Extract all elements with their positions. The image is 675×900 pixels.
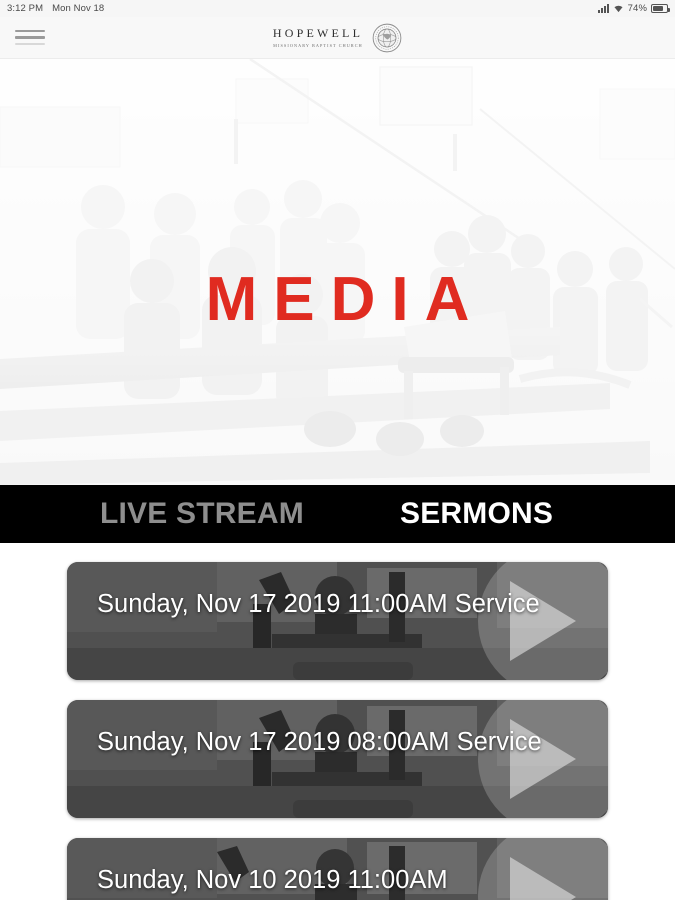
battery-percent-label: 74%: [628, 3, 647, 14]
signal-bars-icon: [598, 4, 609, 13]
list-item[interactable]: Sunday, Nov 10 2019 11:00AM: [67, 838, 608, 900]
status-bar: 3:12 PM Mon Nov 18 74%: [0, 0, 675, 17]
app-screen: 3:12 PM Mon Nov 18 74% HOPEWELL MISSIONA…: [0, 0, 675, 900]
status-time: 3:12 PM: [7, 3, 43, 14]
sermon-title: Sunday, Nov 17 2019 08:00AM Service: [97, 724, 552, 761]
sermon-title: Sunday, Nov 17 2019 11:00AM Service: [97, 586, 552, 623]
brand-logo[interactable]: HOPEWELL MISSIONARY BAPTIST CHURCH: [273, 23, 402, 53]
media-tab-bar: LIVE STREAM SERMONS: [0, 485, 675, 543]
brand-text: HOPEWELL MISSIONARY BAPTIST CHURCH: [273, 27, 363, 48]
tab-sermons[interactable]: SERMONS: [400, 499, 553, 529]
status-date: Mon Nov 18: [52, 3, 104, 14]
tab-live-stream[interactable]: LIVE STREAM: [100, 499, 304, 529]
list-item[interactable]: Sunday, Nov 17 2019 08:00AM Service: [67, 700, 608, 818]
church-globe-seal-icon: [372, 23, 402, 53]
sermon-list: Sunday, Nov 17 2019 11:00AM Service: [0, 543, 675, 900]
sermon-title: Sunday, Nov 10 2019 11:00AM: [97, 862, 552, 899]
hero-banner: MEDIA: [0, 59, 675, 485]
list-item[interactable]: Sunday, Nov 17 2019 11:00AM Service: [67, 562, 608, 680]
hamburger-menu-icon[interactable]: [15, 28, 45, 48]
brand-name: HOPEWELL: [273, 27, 363, 40]
page-title: MEDIA: [0, 269, 675, 331]
status-bar-right: 74%: [598, 3, 668, 14]
battery-icon: [651, 4, 668, 13]
wifi-icon: [613, 4, 624, 13]
status-bar-left: 3:12 PM Mon Nov 18: [7, 3, 104, 14]
app-header: HOPEWELL MISSIONARY BAPTIST CHURCH: [0, 17, 675, 59]
brand-subtitle: MISSIONARY BAPTIST CHURCH: [273, 43, 363, 48]
